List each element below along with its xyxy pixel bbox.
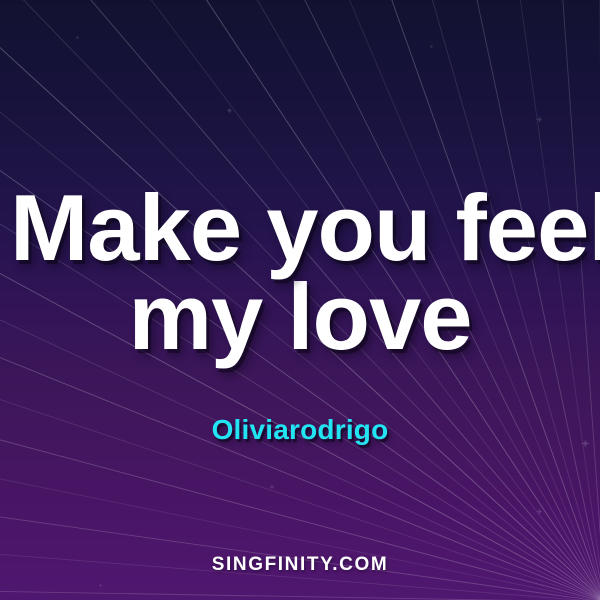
lyric-card: Make you feel my love Oliviarodrigo SING…: [0, 0, 600, 600]
song-title-line-2: my love: [0, 274, 600, 360]
song-title-line-1: Make you feel: [0, 185, 600, 271]
card-content: Make you feel my love Oliviarodrigo SING…: [0, 0, 600, 600]
site-watermark: SINGFINITY.COM: [0, 554, 600, 576]
song-title: Make you feel my love: [0, 185, 600, 361]
artist-name: Oliviarodrigo: [0, 414, 600, 446]
